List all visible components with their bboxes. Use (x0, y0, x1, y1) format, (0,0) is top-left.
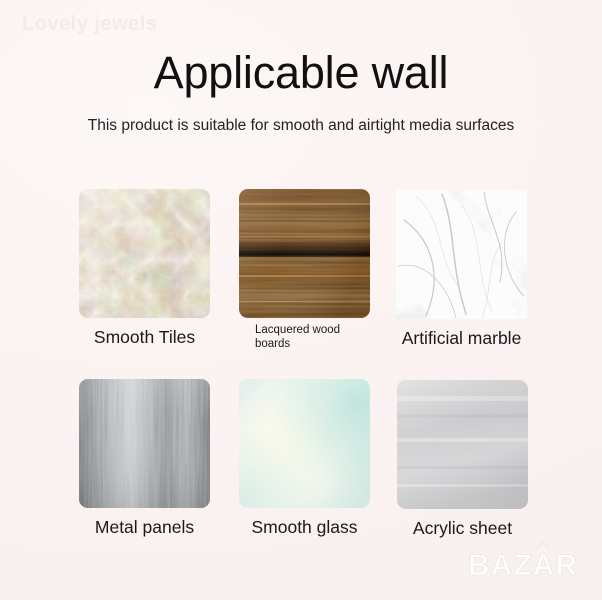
page-title: Applicable wall (0, 46, 602, 100)
shop-watermark: Lovely jewels (22, 13, 157, 36)
material-label-artificial-marble: Artificial marble (402, 327, 522, 349)
swatch-lacquered-wood-boards (239, 189, 370, 318)
material-label-smooth-glass: Smooth glass (251, 516, 357, 538)
page-subtitle: This product is suitable for smooth and … (0, 115, 602, 136)
material-label-acrylic-sheet: Acrylic sheet (413, 517, 512, 539)
material-label-metal-panels: Metal panels (95, 516, 194, 538)
swatch-metal-panels (79, 379, 210, 508)
swatch-acrylic-sheet (397, 380, 528, 509)
swatch-artificial-marble (396, 190, 527, 319)
bazar-watermark: BAZAR (458, 540, 588, 586)
svg-text:BAZAR: BAZAR (468, 549, 578, 582)
material-label-lacquered-wood-boards: Lacquered wood boards (255, 323, 375, 351)
material-label-smooth-tiles: Smooth Tiles (94, 326, 195, 348)
applicable-wall-poster: Lovely jewels Applicable wall This produ… (0, 0, 602, 600)
swatch-smooth-tiles (79, 189, 210, 318)
swatch-smooth-glass (239, 379, 370, 508)
